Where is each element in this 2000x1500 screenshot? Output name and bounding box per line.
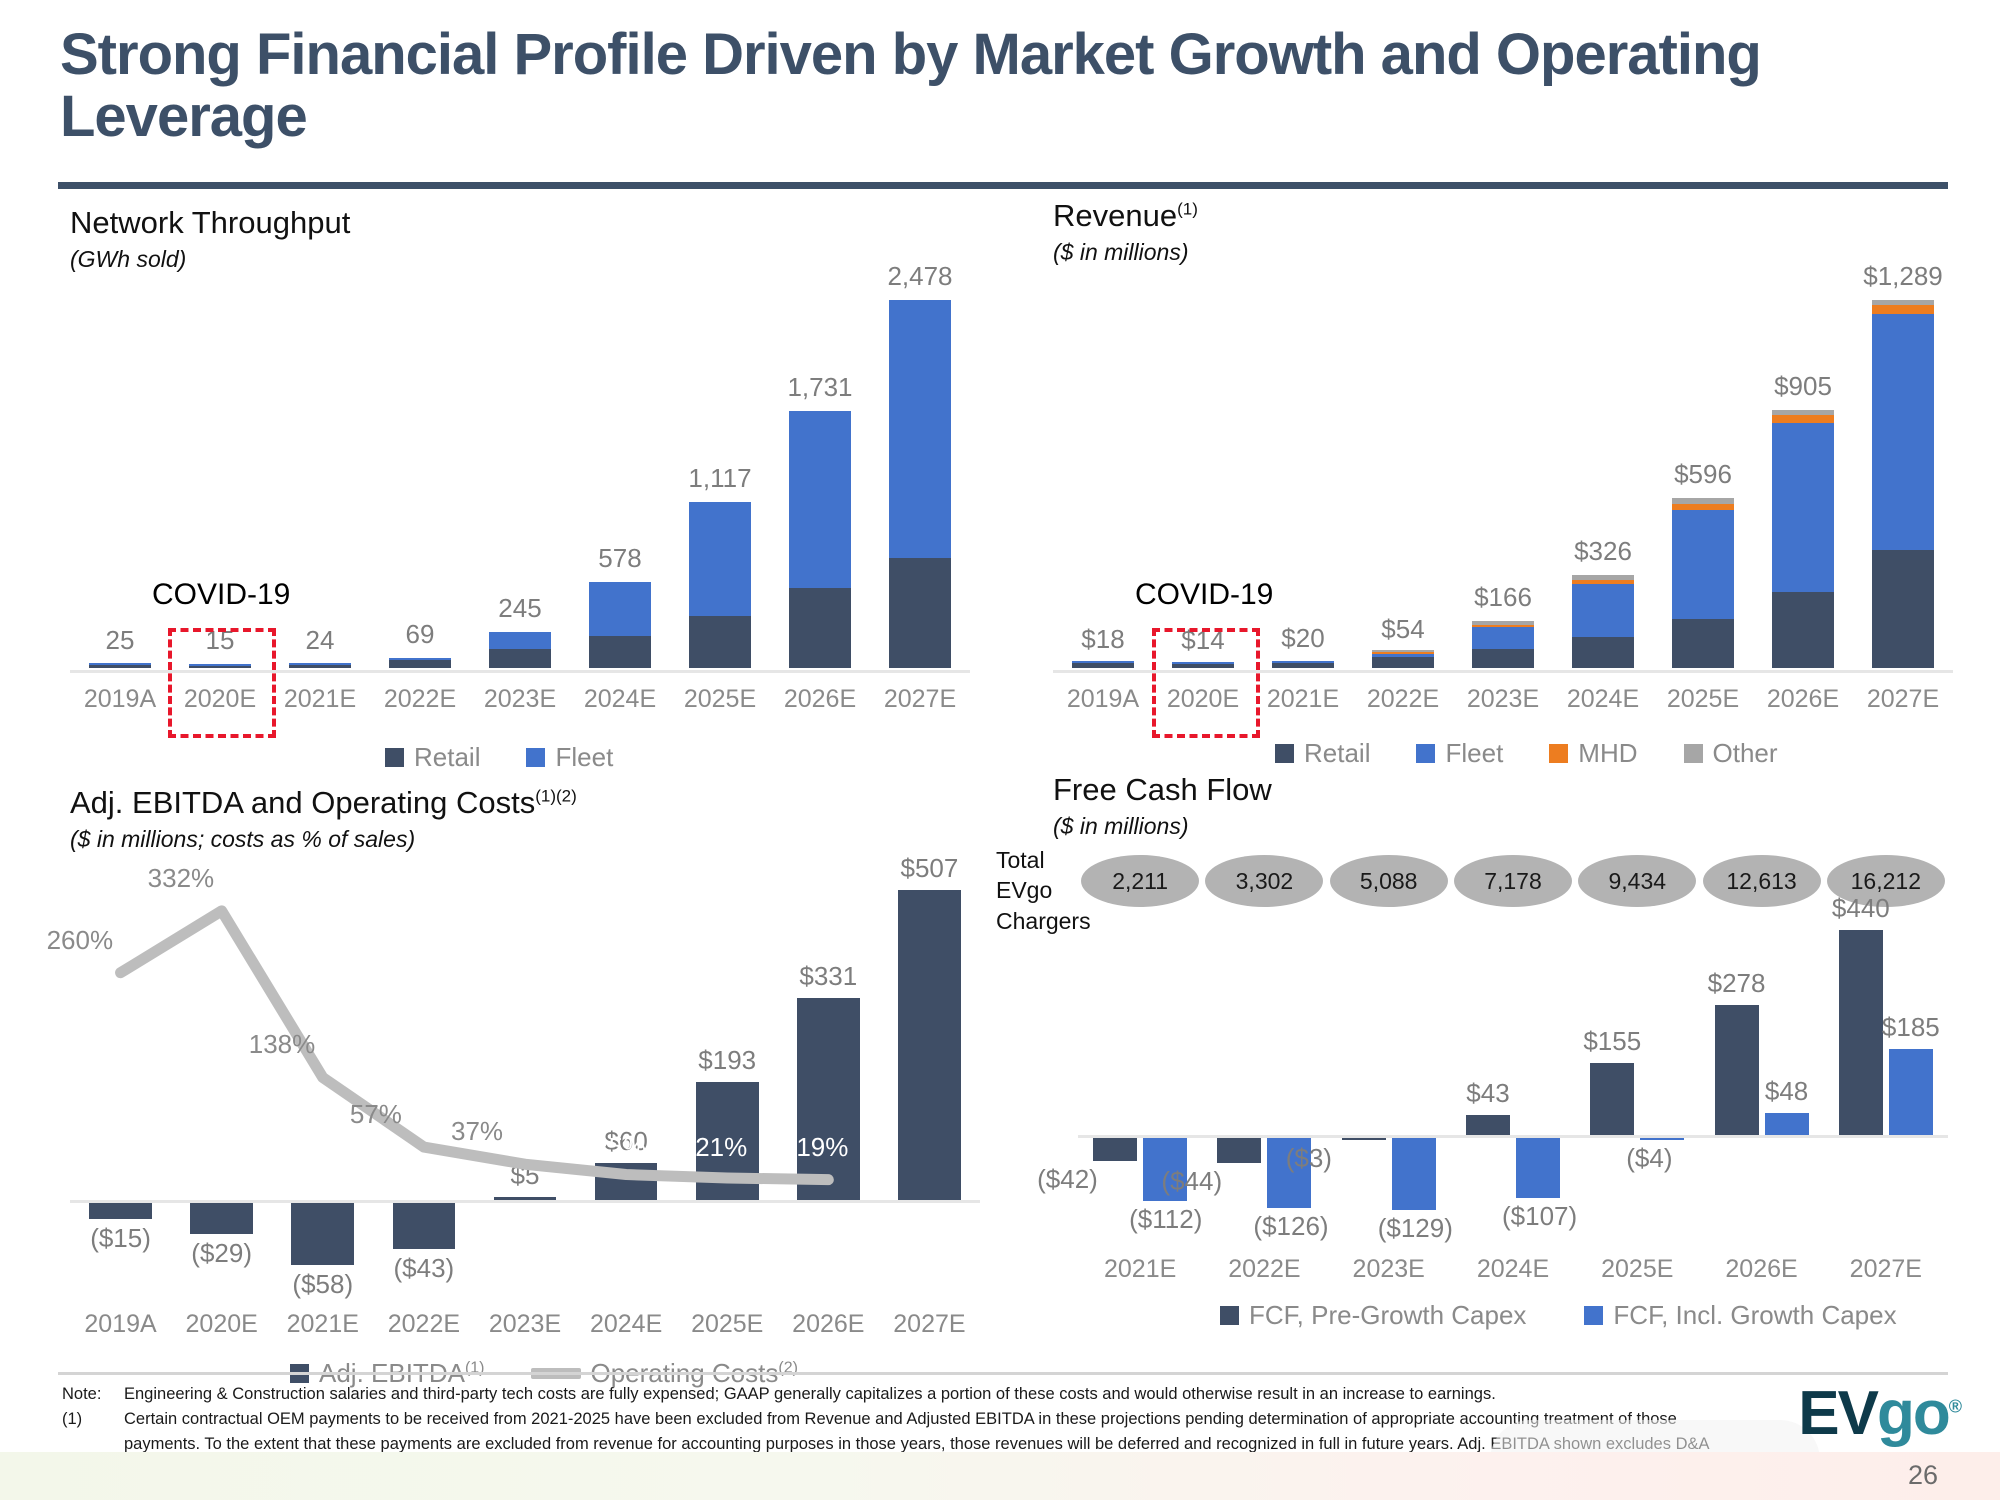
category-label: 2026E <box>1753 685 1853 714</box>
category-label: 2025E <box>670 685 770 714</box>
bar-slot[interactable]: $54 <box>1353 300 1453 668</box>
footer-band <box>0 1452 2000 1500</box>
panel-subtitle-ebitda: ($ in millions; costs as % of sales) <box>70 826 577 853</box>
fcf-bar-group[interactable]: $43 <box>1451 920 1575 1135</box>
bar-segment-retail <box>1772 592 1834 668</box>
bar-segment-fleet <box>1472 627 1534 649</box>
fcf-bar-incl-growth <box>1640 1138 1684 1140</box>
legend-label: FCF, Incl. Growth Capex <box>1613 1300 1896 1331</box>
bar-segment-fleet <box>789 411 851 588</box>
fcf-bar-wrap: ($42) <box>1093 1138 1137 1161</box>
bar-segment-retail <box>1372 657 1434 668</box>
category-label: 2027E <box>1853 685 1953 714</box>
legend-item[interactable]: MHD <box>1549 738 1637 769</box>
fcf-bar-group[interactable] <box>1078 920 1202 1135</box>
fcf-bar-wrap: $155 <box>1590 920 1634 1135</box>
legend-label: MHD <box>1578 738 1637 769</box>
category-label: 2024E <box>570 685 670 714</box>
covid-label-throughput: COVID-19 <box>152 578 290 612</box>
title-divider <box>58 182 1948 189</box>
ebitda-value-label: ($29) <box>191 1238 252 1269</box>
bar-segment-retail <box>1572 637 1634 668</box>
fcf-value-label: $43 <box>1453 1078 1523 1109</box>
fcf-bar-pre-growth <box>1715 1005 1759 1135</box>
bar-slot[interactable]: $596 <box>1653 300 1753 668</box>
category-label: 2026E <box>1699 1255 1823 1284</box>
fcf-bar-wrap: ($3) <box>1342 1138 1386 1140</box>
fcf-negative-group[interactable]: ($3)($129) <box>1327 1138 1451 1210</box>
bar-segment-fleet <box>1572 584 1634 637</box>
bar-segment-retail <box>1072 663 1134 668</box>
fcf-value-label: $185 <box>1876 1012 1946 1043</box>
logo-ev-text: EV <box>1798 1379 1877 1448</box>
charger-pill-cell: 9,434 <box>1575 855 1699 907</box>
stacked-bar <box>489 632 551 668</box>
bar-segment-fleet <box>1772 423 1834 593</box>
panel-title-fcf: Free Cash Flow <box>1053 772 1272 808</box>
revenue-legend: RetailFleetMHDOther <box>1275 738 1778 769</box>
revenue-bars: $18$14$20$54$166$326$596$905$1,289 <box>1053 300 1953 668</box>
category-label: 2026E <box>770 685 870 714</box>
stacked-bar <box>389 658 451 668</box>
throughput-legend: RetailFleet <box>385 742 613 773</box>
fcf-value-label: $440 <box>1826 893 1896 924</box>
ebitda-bar-negative <box>89 1203 152 1219</box>
revenue-title-sup: (1) <box>1177 200 1198 219</box>
fcf-bar-incl-growth <box>1765 1113 1809 1135</box>
fcf-bar-incl-growth <box>1516 1138 1560 1198</box>
fcf-value-label: ($42) <box>1037 1164 1098 1195</box>
bar-value-label: $1,289 <box>1823 261 1983 292</box>
fcf-category-labels: 2021E2022E2023E2024E2025E2026E2027E <box>1078 1255 1948 1284</box>
fcf-bar-group[interactable] <box>1327 920 1451 1135</box>
charger-count-badge: 2,211 <box>1081 855 1199 907</box>
page-number: 26 <box>1908 1460 1938 1491</box>
bar-segment-fleet <box>689 502 751 616</box>
bar-segment-fleet <box>489 632 551 649</box>
panel-title-throughput: Network Throughput <box>70 205 350 241</box>
fcf-value-label: ($126) <box>1253 1211 1328 1242</box>
stacked-bar <box>89 663 151 668</box>
bar-segment-retail <box>289 665 351 668</box>
category-label: 2025E <box>677 1310 778 1339</box>
category-label: 2026E <box>778 1310 879 1339</box>
fcf-negative-bars: ($42)($112)($44)($126)($3)($129)($107)($… <box>1078 1138 1948 1218</box>
bar-slot[interactable]: 2,478 <box>870 300 970 668</box>
stacked-bar <box>1272 661 1334 668</box>
charger-count-badge: 12,613 <box>1703 855 1821 907</box>
chart-free-cash-flow: $43$155$278$48$440$185 ($42)($112)($44)(… <box>1078 920 1948 1320</box>
bar-segment-retail <box>889 558 951 668</box>
stacked-bar <box>1572 575 1634 668</box>
bar-segment-mhd <box>1872 305 1934 314</box>
legend-swatch-icon <box>526 748 545 767</box>
fcf-bar-pre-growth <box>1590 1063 1634 1135</box>
category-label: 2022E <box>1353 685 1453 714</box>
bar-slot[interactable]: 1,117 <box>670 300 770 668</box>
bar-slot[interactable]: 245 <box>470 300 570 668</box>
category-label: 2027E <box>879 1310 980 1339</box>
legend-item[interactable]: FCF, Pre-Growth Capex <box>1220 1300 1526 1331</box>
bar-segment-retail <box>489 649 551 668</box>
bar-segment-retail <box>789 588 851 668</box>
panel-subtitle-throughput: (GWh sold) <box>70 246 350 273</box>
bar-segment-fleet <box>1872 314 1934 550</box>
bar-slot[interactable]: $14 <box>1153 300 1253 668</box>
category-label: 2022E <box>373 1310 474 1339</box>
fcf-bar-group[interactable]: $440$185 <box>1824 920 1948 1135</box>
footer-divider <box>58 1372 1948 1375</box>
charger-count-badge: 3,302 <box>1205 855 1323 907</box>
ebitda-negative-bars: ($15)($29)($58)($43) <box>70 1203 980 1273</box>
legend-item[interactable]: FCF, Incl. Growth Capex <box>1584 1300 1896 1331</box>
category-label: 2020E <box>171 1310 272 1339</box>
stacked-bar <box>789 411 851 668</box>
bar-segment-retail <box>89 665 151 668</box>
fcf-negative-group[interactable]: ($107) <box>1451 1138 1575 1198</box>
fcf-bar-group[interactable] <box>1202 920 1326 1135</box>
category-label: 2021E <box>1078 1255 1202 1284</box>
bar-segment-mhd <box>1772 415 1834 422</box>
operating-cost-pct-inbar: 19% <box>796 1132 848 1163</box>
ebitda-negative-slot[interactable]: ($43) <box>373 1203 474 1249</box>
panel-subtitle-revenue: ($ in millions) <box>1053 239 1198 266</box>
total-chargers-caption: TotalEVgoChargers <box>996 845 1091 936</box>
stacked-bar <box>689 502 751 668</box>
bar-slot[interactable]: 24 <box>270 300 370 668</box>
legend-swatch-icon <box>1684 744 1703 763</box>
ebitda-negative-slot[interactable]: ($29) <box>171 1203 272 1234</box>
bar-segment-fleet <box>589 582 651 636</box>
ebitda-negative-slot[interactable]: ($15) <box>70 1203 171 1219</box>
stacked-bar <box>289 663 351 668</box>
charger-pill-cell: 2,211 <box>1078 855 1202 907</box>
ebitda-value-label: ($58) <box>292 1269 353 1300</box>
panel-ebitda: Adj. EBITDA and Operating Costs(1)(2) ($… <box>70 785 577 853</box>
total-chargers-row: 2,2113,3025,0887,1789,43412,61316,212 <box>1078 855 1948 907</box>
stacked-bar <box>1072 661 1134 668</box>
bar-slot[interactable]: 15 <box>170 300 270 668</box>
registered-mark-icon: ® <box>1949 1396 1960 1416</box>
panel-revenue: Revenue(1) ($ in millions) <box>1053 198 1198 266</box>
bar-slot[interactable]: 25 <box>70 300 170 668</box>
stacked-bar <box>1672 498 1734 668</box>
category-label: 2027E <box>870 685 970 714</box>
ebitda-category-labels: 2019A2020E2021E2022E2023E2024E2025E2026E… <box>70 1310 980 1339</box>
fcf-bar-pre-growth <box>1217 1138 1261 1163</box>
category-label: 2025E <box>1575 1255 1699 1284</box>
category-label: 2019A <box>70 685 170 714</box>
fcf-value-label: ($129) <box>1378 1213 1453 1244</box>
bar-segment-fleet <box>1672 510 1734 620</box>
fcf-value-label: ($3) <box>1286 1143 1332 1174</box>
category-label: 2027E <box>1824 1255 1948 1284</box>
page-title: Strong Financial Profile Driven by Marke… <box>60 24 1860 148</box>
operating-cost-pct-label: 37% <box>451 1116 503 1147</box>
legend-label: Retail <box>414 742 480 773</box>
category-label: 2024E <box>1553 685 1653 714</box>
panel-network-throughput: Network Throughput (GWh sold) <box>70 205 350 273</box>
revenue-title-text: Revenue <box>1053 198 1177 233</box>
operating-cost-pct-label: 332% <box>148 863 215 894</box>
operating-cost-pct-label: 260% <box>47 925 114 956</box>
operating-cost-pct-label: 57% <box>350 1099 402 1130</box>
legend-label: Fleet <box>555 742 613 773</box>
charger-count-badge: 7,178 <box>1454 855 1572 907</box>
stacked-bar <box>1772 410 1834 668</box>
fcf-bar-wrap: ($129) <box>1392 1138 1436 1210</box>
fcf-value-label: ($107) <box>1502 1201 1577 1232</box>
charger-count-badge: 5,088 <box>1330 855 1448 907</box>
legend-item[interactable]: Other <box>1684 738 1778 769</box>
fcf-bar-wrap: ($107) <box>1516 1138 1560 1198</box>
footnote-tag: Note: <box>62 1382 124 1407</box>
legend-swatch-icon <box>385 748 404 767</box>
operating-cost-pct-label: 138% <box>249 1029 316 1060</box>
fcf-value-label: $278 <box>1701 968 1771 999</box>
fcf-bar-wrap: $185 <box>1889 920 1933 1135</box>
bar-slot[interactable]: 1,731 <box>770 300 870 668</box>
legend-swatch-icon <box>1275 744 1294 763</box>
stacked-bar <box>589 582 651 668</box>
fcf-bar-wrap: $43 <box>1466 920 1510 1135</box>
ebitda-title-text: Adj. EBITDA and Operating Costs <box>70 785 535 820</box>
stacked-bar <box>1372 650 1434 668</box>
bar-segment-retail <box>389 660 451 668</box>
slide: Strong Financial Profile Driven by Marke… <box>0 0 2000 1500</box>
charger-pill-cell: 12,613 <box>1699 855 1823 907</box>
category-label: 2025E <box>1653 685 1753 714</box>
covid-label-revenue: COVID-19 <box>1135 578 1273 612</box>
bar-segment-retail <box>1472 649 1534 668</box>
bar-value-label: 2,478 <box>840 261 1000 292</box>
fcf-bar-pre-growth <box>1093 1138 1137 1161</box>
legend-swatch-icon <box>1416 744 1435 763</box>
covid-highlight-box-revenue <box>1152 628 1260 738</box>
category-label: 2023E <box>1453 685 1553 714</box>
fcf-value-label: $48 <box>1751 1076 1821 1107</box>
panel-title-ebitda: Adj. EBITDA and Operating Costs(1)(2) <box>70 785 577 821</box>
category-label: 2023E <box>1327 1255 1451 1284</box>
category-label: 2022E <box>370 685 470 714</box>
operating-cost-pct-inbar: 25% <box>594 1132 646 1163</box>
charger-pill-cell: 5,088 <box>1327 855 1451 907</box>
legend-item[interactable]: Retail <box>1275 738 1370 769</box>
fcf-bar-group[interactable]: $155 <box>1575 920 1699 1135</box>
bar-segment-retail <box>689 616 751 668</box>
fcf-value-label: ($44) <box>1161 1166 1222 1197</box>
panel-fcf: Free Cash Flow ($ in millions) <box>1053 772 1272 840</box>
fcf-negative-group[interactable]: ($4) <box>1575 1138 1699 1140</box>
fcf-bar-wrap: $48 <box>1765 920 1809 1135</box>
ebitda-bar-negative <box>393 1203 456 1249</box>
stacked-bar <box>1472 621 1534 668</box>
category-label: 2024E <box>576 1310 677 1339</box>
legend-item[interactable]: Retail <box>385 742 480 773</box>
category-label: 2023E <box>474 1310 575 1339</box>
fcf-positive-bars: $43$155$278$48$440$185 <box>1078 920 1948 1135</box>
operating-cost-pct-inbar: 21% <box>695 1132 747 1163</box>
panel-title-revenue: Revenue(1) <box>1053 198 1198 234</box>
legend-label: FCF, Pre-Growth Capex <box>1249 1300 1526 1331</box>
fcf-bar-pre-growth <box>1466 1115 1510 1135</box>
covid-highlight-box-throughput <box>168 628 276 738</box>
category-label: 2019A <box>1053 685 1153 714</box>
fcf-bar-group[interactable]: $278$48 <box>1699 920 1823 1135</box>
fcf-bar-wrap: ($4) <box>1640 1138 1684 1140</box>
category-label: 2021E <box>270 685 370 714</box>
evgo-logo: EVgo® <box>1798 1378 1960 1449</box>
fcf-bar-incl-growth <box>1889 1049 1933 1135</box>
bar-segment-retail <box>1272 663 1334 668</box>
throughput-bars: 251524692455781,1171,7312,478 <box>70 300 970 668</box>
bar-slot[interactable]: $166 <box>1453 300 1553 668</box>
chart-adj-ebitda: $5$60$193$331$507 ($15)($29)($58)($43) 2… <box>70 880 980 1260</box>
logo-go-text: go <box>1877 1379 1949 1448</box>
legend-label: Other <box>1713 738 1778 769</box>
legend-swatch-icon <box>1584 1306 1603 1325</box>
legend-label: Fleet <box>1445 738 1503 769</box>
bar-slot[interactable]: $905 <box>1753 300 1853 668</box>
category-label: 2024E <box>1451 1255 1575 1284</box>
ebitda-bar-negative <box>190 1203 253 1234</box>
legend-item[interactable]: Fleet <box>526 742 613 773</box>
fcf-value-label: ($112) <box>1129 1204 1202 1235</box>
ebitda-negative-slot[interactable]: ($58) <box>272 1203 373 1265</box>
fcf-bar-incl-growth <box>1392 1138 1436 1210</box>
category-label: 2023E <box>470 685 570 714</box>
footnote-row: Note:Engineering & Construction salaries… <box>62 1382 1742 1407</box>
stacked-bar <box>889 300 951 668</box>
fcf-bar-pre-growth <box>1342 1138 1386 1140</box>
bar-segment-retail <box>1672 619 1734 668</box>
category-label: 2021E <box>1253 685 1353 714</box>
bar-segment-retail <box>1872 550 1934 668</box>
legend-label: Retail <box>1304 738 1370 769</box>
fcf-bar-wrap: ($44) <box>1217 1138 1261 1163</box>
footnote-text: Engineering & Construction salaries and … <box>124 1382 1742 1407</box>
ebitda-title-sup: (1)(2) <box>535 787 577 806</box>
bar-segment-fleet <box>889 300 951 558</box>
bar-slot[interactable]: $18 <box>1053 300 1153 668</box>
charger-pill-cell: 3,302 <box>1202 855 1326 907</box>
fcf-value-label: ($4) <box>1626 1143 1672 1174</box>
legend-item[interactable]: Fleet <box>1416 738 1503 769</box>
bar-segment-retail <box>589 636 651 668</box>
ebitda-value-label: ($43) <box>394 1253 455 1284</box>
bar-slot[interactable]: $1,289 <box>1853 300 1953 668</box>
fcf-legend: FCF, Pre-Growth CapexFCF, Incl. Growth C… <box>1220 1300 1897 1331</box>
legend-swatch-icon <box>1220 1306 1239 1325</box>
legend-swatch-icon <box>1549 744 1568 763</box>
category-label: 2022E <box>1202 1255 1326 1284</box>
category-label: 2021E <box>272 1310 373 1339</box>
category-label: 2019A <box>70 1310 171 1339</box>
fcf-value-label: $155 <box>1577 1026 1647 1057</box>
charger-pill-cell: 7,178 <box>1451 855 1575 907</box>
panel-subtitle-fcf: ($ in millions) <box>1053 813 1272 840</box>
charger-count-badge: 9,434 <box>1578 855 1696 907</box>
ebitda-bar-negative <box>291 1203 354 1265</box>
ebitda-value-label: ($15) <box>90 1223 151 1254</box>
stacked-bar <box>1872 300 1934 668</box>
